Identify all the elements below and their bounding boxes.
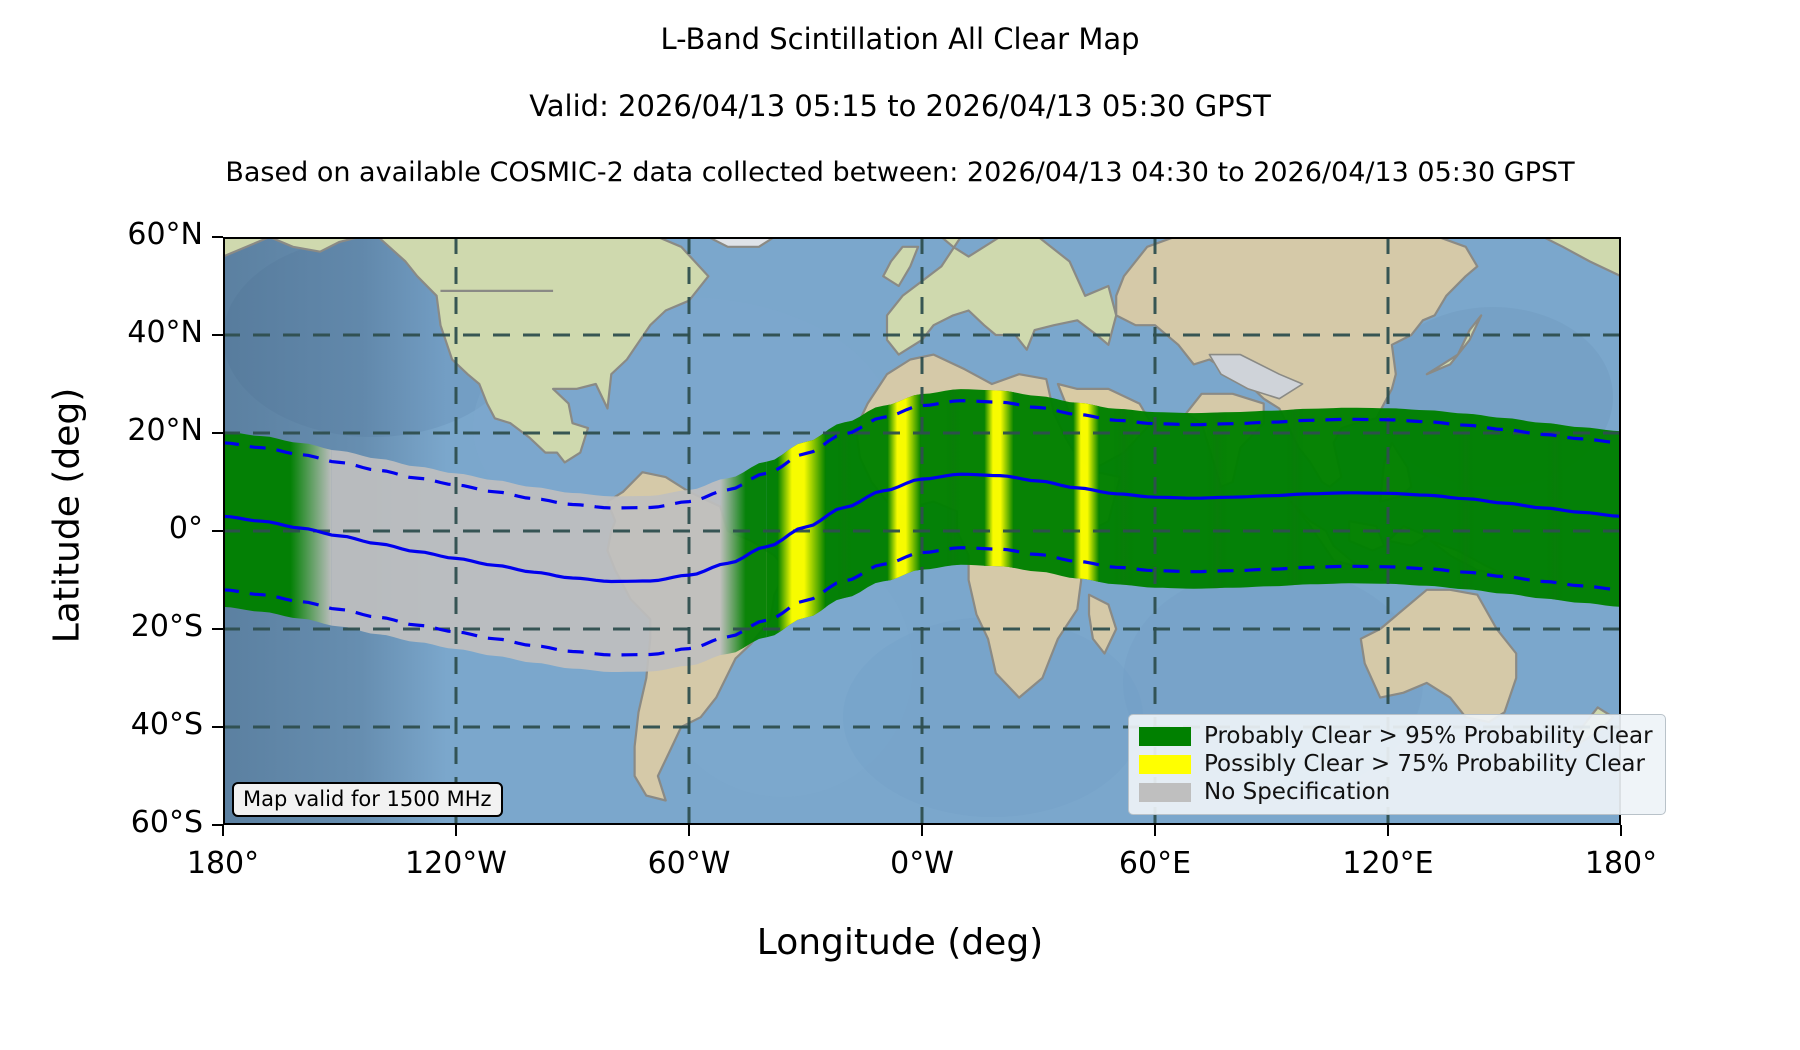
y-tick-label: 20°N [0,413,203,448]
x-tick-mark [1154,825,1157,836]
data-source-subtitle: Based on available COSMIC-2 data collect… [0,157,1800,188]
y-tick-mark [212,432,223,435]
page-title: L-Band Scintillation All Clear Map [0,22,1800,56]
y-tick-mark [212,726,223,729]
y-axis-title: Latitude (deg) [47,316,88,716]
x-tick-label: 120°W [361,846,551,881]
scintillation-map-figure: L-Band Scintillation All Clear Map Valid… [0,0,1800,1050]
x-tick-mark [455,825,458,836]
x-tick-label: 0°W [827,846,1017,881]
y-tick-label: 40°S [0,707,203,742]
y-tick-label: 60°S [0,805,203,840]
y-tick-mark [212,530,223,533]
legend: Probably Clear > 95% Probability ClearPo… [1128,714,1666,815]
x-tick-mark [1387,825,1390,836]
x-tick-mark [921,825,924,836]
legend-swatch-possibly-clear [1139,755,1191,774]
y-tick-mark [212,236,223,239]
y-tick-label: 0° [0,511,203,546]
legend-label: Probably Clear > 95% Probability Clear [1204,723,1653,749]
x-tick-label: 180° [1526,846,1716,881]
legend-item-probably-clear: Probably Clear > 95% Probability Clear [1139,722,1653,750]
legend-swatch-no-specification [1139,783,1191,802]
y-tick-mark [212,824,223,827]
y-tick-label: 20°S [0,609,203,644]
x-tick-label: 60°W [594,846,784,881]
frequency-note-box: Map valid for 1500 MHz [232,782,503,817]
x-tick-mark [688,825,691,836]
y-tick-mark [212,628,223,631]
y-tick-label: 60°N [0,217,203,252]
legend-label: Possibly Clear > 75% Probability Clear [1204,751,1645,777]
y-tick-label: 40°N [0,315,203,350]
validity-subtitle: Valid: 2026/04/13 05:15 to 2026/04/13 05… [0,89,1800,123]
x-tick-label: 120°E [1293,846,1483,881]
y-tick-mark [212,334,223,337]
x-tick-label: 180° [128,846,318,881]
x-tick-label: 60°E [1060,846,1250,881]
legend-item-no-specification: No Specification [1139,778,1653,806]
x-tick-mark [222,825,225,836]
legend-item-possibly-clear: Possibly Clear > 75% Probability Clear [1139,750,1653,778]
legend-swatch-probably-clear [1139,727,1191,746]
legend-label: No Specification [1204,779,1390,805]
x-tick-mark [1620,825,1623,836]
x-axis-title: Longitude (deg) [0,922,1800,963]
